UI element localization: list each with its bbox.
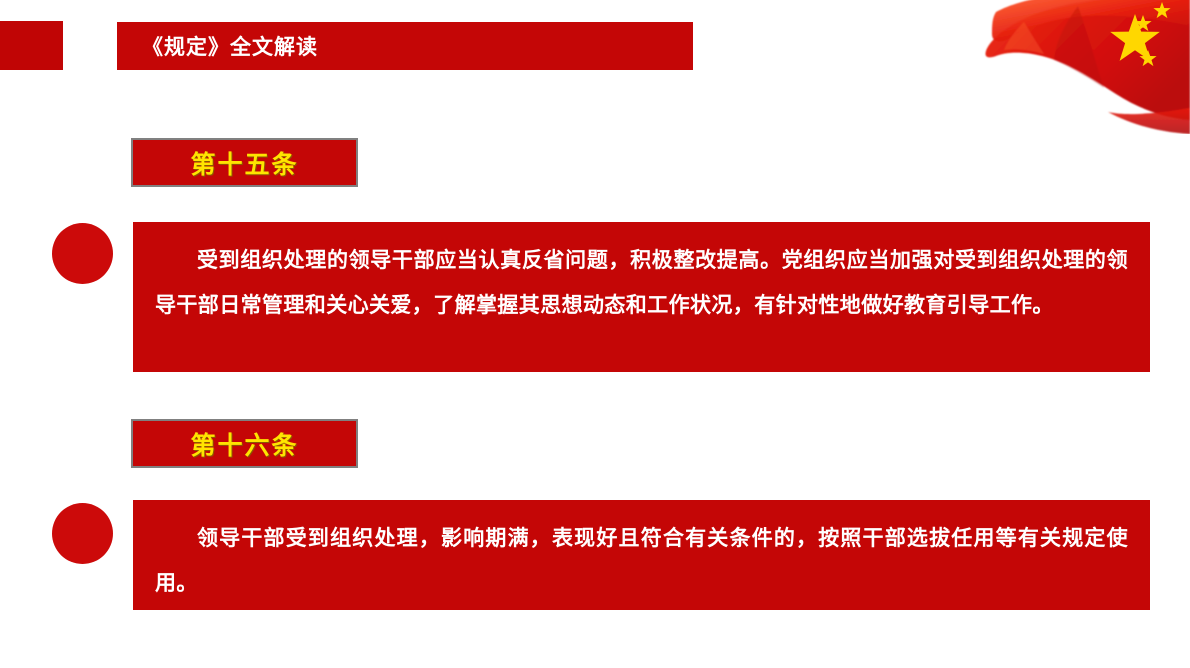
article-body-text-2: 领导干部受到组织处理，影响期满，表现好且符合有关条件的，按照干部选拔任用等有关规… [155,516,1128,606]
red-dot-bullet-1 [52,223,113,284]
header-accent-block [0,21,63,70]
page-title: 《规定》全文解读 [117,31,318,61]
flag-stars [1110,2,1170,66]
article-heading-1-label: 第十五条 [190,145,298,181]
article-heading-2: 第十六条 [131,419,358,468]
article-body-panel-1: 受到组织处理的领导干部应当认真反省问题，积极整改提高。党组织应当加强对受到组织处… [133,222,1150,372]
header-banner: 《规定》全文解读 [117,22,693,70]
article-heading-2-label: 第十六条 [190,426,298,462]
flag-cloth [985,0,1190,134]
article-heading-1: 第十五条 [131,138,358,187]
article-body-panel-2: 领导干部受到组织处理，影响期满，表现好且符合有关条件的，按照干部选拔任用等有关规… [133,500,1150,610]
article-body-text-1: 受到组织处理的领导干部应当认真反省问题，积极整改提高。党组织应当加强对受到组织处… [155,238,1128,328]
slide-canvas: 《规定》全文解读 [0,0,1190,668]
china-flag-decoration [958,0,1190,134]
red-dot-bullet-2 [52,503,113,564]
